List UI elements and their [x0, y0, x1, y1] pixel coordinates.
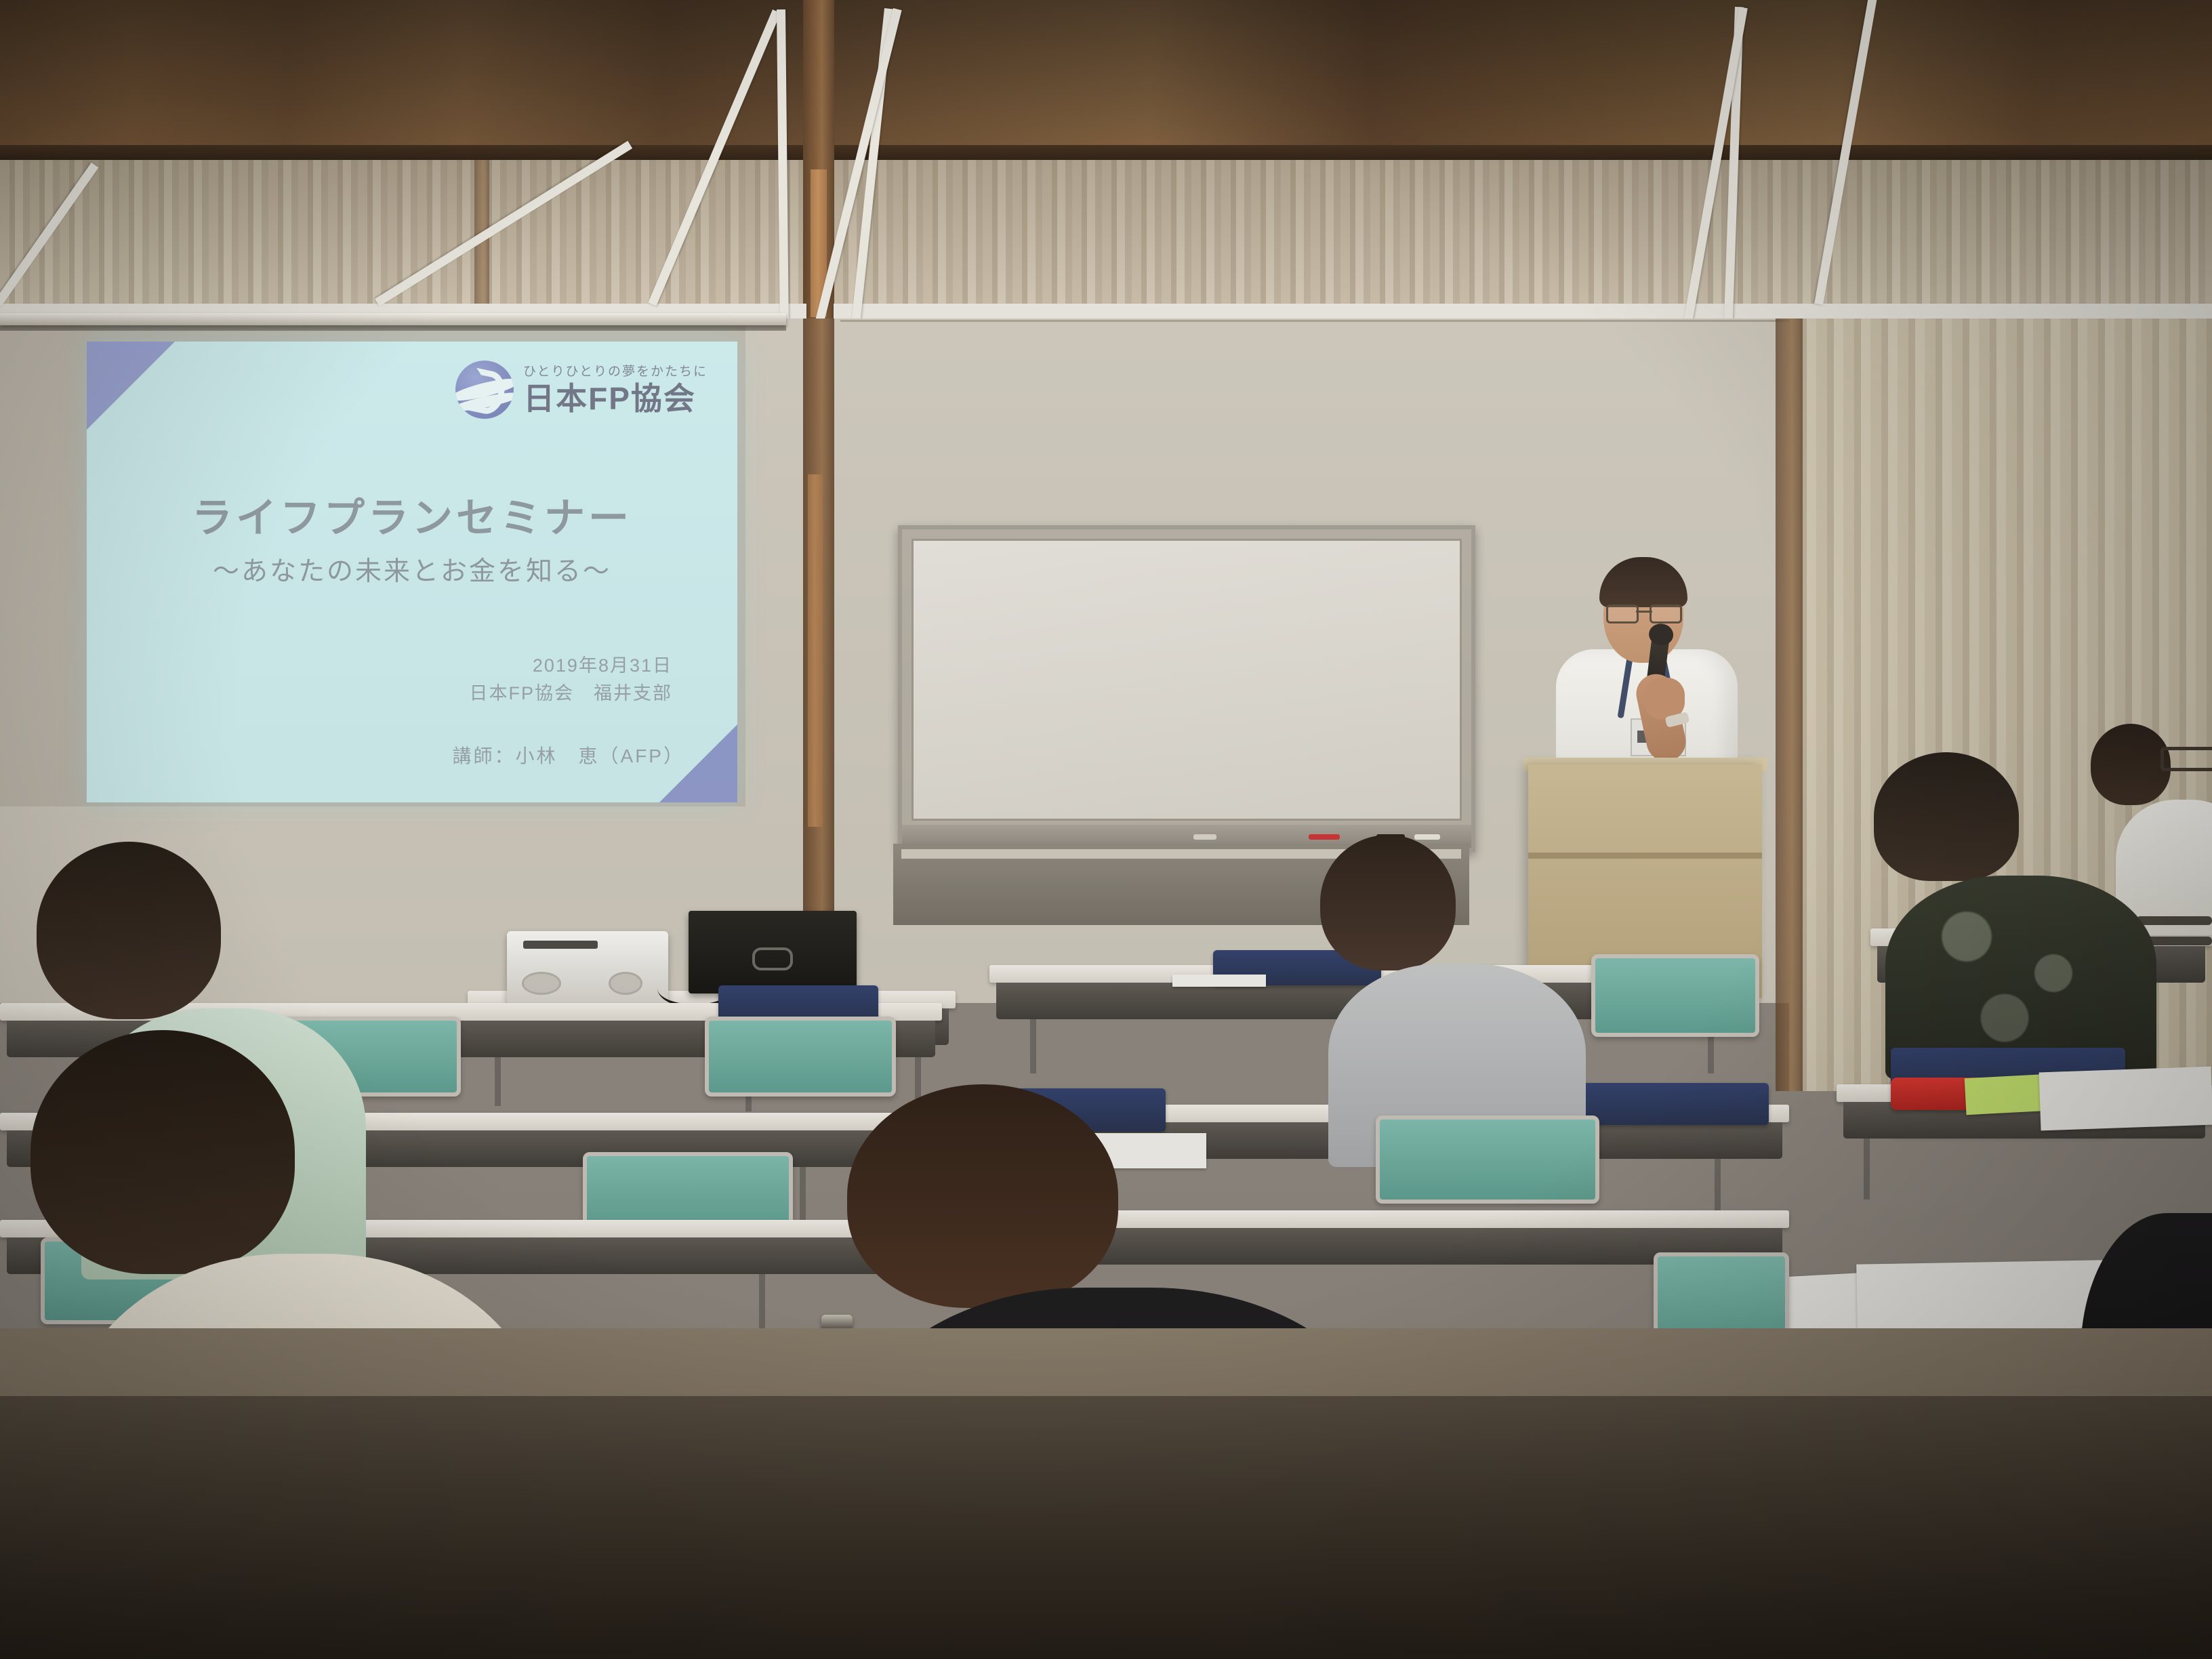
slide-date: 2019年8月31日 — [469, 652, 672, 680]
attendee-right-floral — [1885, 752, 2156, 1064]
fujitsu-logo-icon — [752, 947, 793, 970]
wood-column-right — [1776, 319, 1803, 1091]
chair-mid-right — [1591, 954, 1759, 1037]
wood-column-highlight — [808, 474, 823, 827]
wave-globe-icon — [455, 361, 514, 419]
logo-name: 日本FP協会 — [523, 383, 708, 414]
slide-presenter: 講師：小林 恵（AFP） — [453, 741, 684, 769]
presenter — [1552, 554, 1742, 785]
paper-right-1 — [2039, 1067, 2212, 1131]
wall-seam-center — [840, 320, 1789, 322]
slide-organization: 日本FP協会 福井支部 — [469, 680, 672, 708]
glasses-far-right-icon — [2160, 747, 2212, 771]
navy-bag-3 — [1579, 1083, 1769, 1125]
projection-screen-roller-shadow — [0, 325, 786, 331]
whiteboard — [898, 525, 1475, 852]
fp-association-logo: ひとりひとりの夢をかたちに 日本FP協会 — [455, 361, 708, 419]
whiteboard-surface — [912, 539, 1462, 821]
chair-mid-center — [1376, 1115, 1599, 1204]
logo-tagline: ひとりひとりの夢をかたちに — [523, 365, 708, 378]
paper-back-1 — [1172, 975, 1266, 987]
floor-shadow — [0, 1396, 2212, 1659]
glasses-icon — [1606, 605, 1682, 619]
projection-screen-roller — [0, 313, 786, 325]
slide-subtitle: 〜あなたの未来とお金を知る〜 — [87, 550, 737, 588]
steel-rail-right — [834, 304, 2212, 319]
marker-white — [1193, 834, 1216, 840]
presenter-hair — [1599, 557, 1687, 607]
seminar-room-photo: ひとりひとりの夢をかたちに 日本FP協会 ライフプランセミナー 〜あなたの未来と… — [0, 0, 2212, 1659]
upper-wall-panel-right — [834, 160, 2212, 317]
projector — [507, 931, 668, 1004]
projected-slide: ひとりひとりの夢をかたちに 日本FP協会 ライフプランセミナー 〜あなたの未来と… — [87, 342, 737, 802]
ceiling-wood-beams — [0, 0, 2212, 156]
slide-meta: 2019年8月31日 日本FP協会 福井支部 — [469, 652, 672, 707]
slide-title: ライフプランセミナー — [87, 485, 737, 544]
